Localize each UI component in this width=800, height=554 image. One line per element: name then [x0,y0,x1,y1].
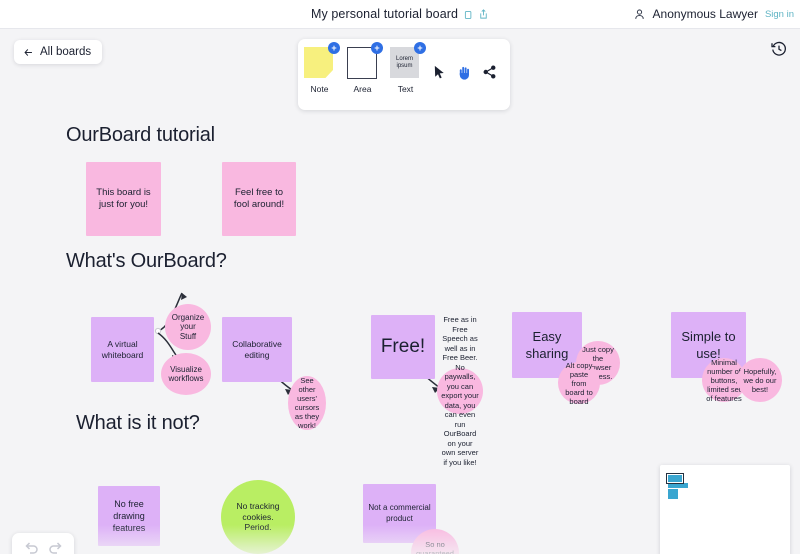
hand-tool[interactable] [452,47,477,97]
redo-icon[interactable] [47,540,63,554]
all-boards-button[interactable]: All boards [14,40,102,64]
cursor-tool[interactable] [427,47,452,97]
sticky-note[interactable]: Hopefully, we do our best! [738,358,782,402]
add-badge-text[interactable]: + [414,42,426,54]
sticky-note[interactable]: Collaborative editing [222,317,292,382]
share-icon [482,64,497,80]
tool-area[interactable]: + Area [341,47,384,94]
sticky-note[interactable]: No free drawing features [98,486,160,546]
section-heading-whats: What's OurBoard? [66,250,227,273]
history-clock-icon [770,45,788,62]
top-bar: My personal tutorial board Anonymous Law… [0,0,800,29]
tool-text-label: Text [398,84,414,94]
board-canvas[interactable]: All boards + Note + Area Lorem ipsum + T… [0,28,800,554]
page-title: My personal tutorial board [311,7,458,21]
sticky-note[interactable]: No tracking cookies. Period. [221,480,295,554]
sticky-note[interactable]: Alt copy paste from board to board [558,362,600,404]
minimap-viewport[interactable] [666,473,684,484]
copy-icon[interactable] [464,8,475,20]
sticky-note[interactable]: A virtual whiteboard [91,317,154,382]
user-area: Anonymous Lawyer Sign in [633,0,794,28]
title-icon-group [464,8,489,20]
sticky-note[interactable]: Free as in Free Speech as well as in Fre… [437,368,483,414]
minimap-shape [668,489,678,499]
sticky-note[interactable]: Visualize workflows [161,353,211,395]
text-swatch-icon: Lorem ipsum + [390,47,421,80]
all-boards-label: All boards [40,46,91,58]
area-swatch-icon: + [347,47,378,80]
add-badge-note[interactable]: + [328,42,340,54]
add-badge-area[interactable]: + [371,42,383,54]
tool-note-label: Note [311,84,329,94]
minimap-panel[interactable] [660,465,790,554]
share-tool[interactable] [477,47,502,97]
undo-redo-widget[interactable] [12,533,74,554]
user-name: Anonymous Lawyer [653,7,758,21]
sticky-note[interactable]: Organize your Stuff [165,304,211,350]
note-swatch-icon: + [304,47,335,80]
section-heading-whatnot: What is it not? [76,412,200,435]
sticky-note[interactable]: Free! [371,315,435,379]
hand-icon [457,64,472,80]
export-icon[interactable] [478,8,489,20]
sticky-note[interactable]: See other users' cursors as they work! [288,376,326,430]
history-button[interactable] [770,40,790,60]
arrow-left-icon [23,47,34,58]
tool-text[interactable]: Lorem ipsum + Text [384,47,427,94]
tool-note[interactable]: + Note [298,47,341,94]
tool-palette[interactable]: + Note + Area Lorem ipsum + Text [298,39,510,110]
section-heading-tutorial: OurBoard tutorial [66,124,215,147]
undo-icon[interactable] [24,540,40,554]
tool-area-label: Area [354,84,372,94]
sign-in-link[interactable]: Sign in [765,9,794,20]
person-icon [633,8,646,21]
sticky-note[interactable]: This board is just for you! [86,162,161,236]
sticky-note[interactable]: Feel free to fool around! [222,162,296,236]
cursor-icon [432,64,447,80]
